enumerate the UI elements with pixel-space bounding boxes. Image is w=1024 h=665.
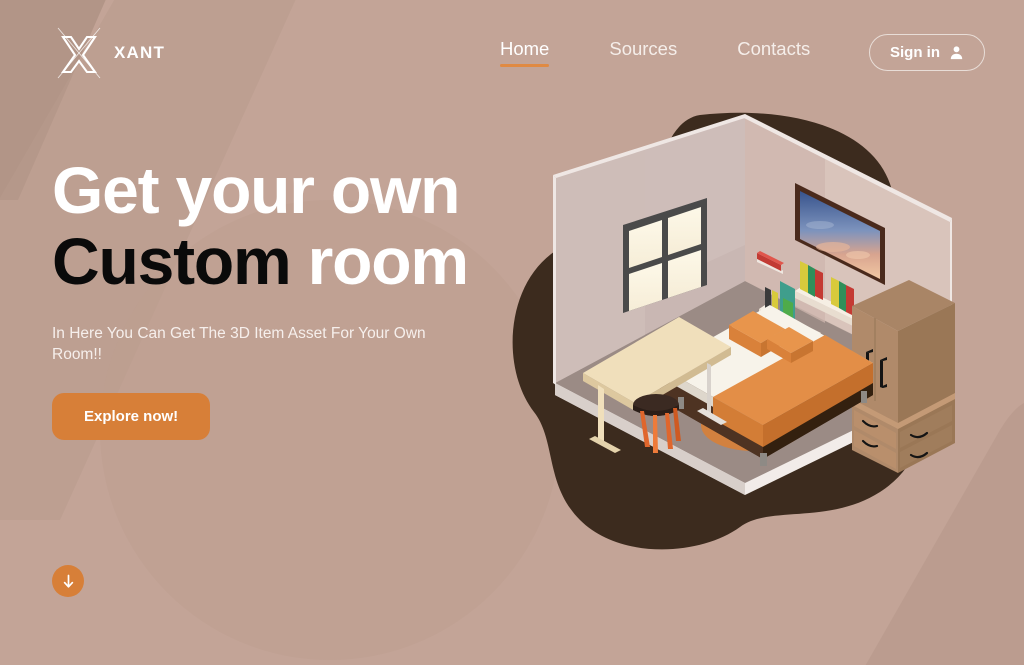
explore-now-button[interactable]: Explore now! — [52, 393, 210, 440]
nav-item-sources[interactable]: Sources — [609, 38, 677, 67]
hero-subtitle: In Here You Can Get The 3D Item Asset Fo… — [52, 323, 447, 365]
brand-name: XANT — [114, 43, 165, 63]
headline-accent: Custom — [52, 224, 290, 298]
page-title: Get your own Custom room — [52, 155, 522, 297]
arrow-down-icon — [62, 574, 75, 589]
headline-part-1: Get your own — [52, 153, 459, 227]
sign-in-label: Sign in — [890, 44, 940, 61]
x-logo-icon — [52, 26, 106, 80]
nav-item-contacts[interactable]: Contacts — [737, 38, 810, 67]
sign-in-button[interactable]: Sign in — [869, 34, 985, 71]
hero-section: Get your own Custom room In Here You Can… — [52, 155, 522, 440]
user-icon — [949, 45, 964, 60]
nav-item-home[interactable]: Home — [500, 38, 549, 67]
main-navigation: Home Sources Contacts Sign in — [500, 38, 870, 67]
site-header: XANT Home Sources Contacts Sign in — [0, 0, 1024, 110]
brand-logo[interactable]: XANT — [52, 26, 165, 80]
isometric-bedroom-render — [495, 95, 1024, 595]
scroll-down-button[interactable] — [52, 565, 84, 597]
headline-part-2: room — [290, 224, 467, 298]
wall-edge-left — [553, 175, 556, 385]
